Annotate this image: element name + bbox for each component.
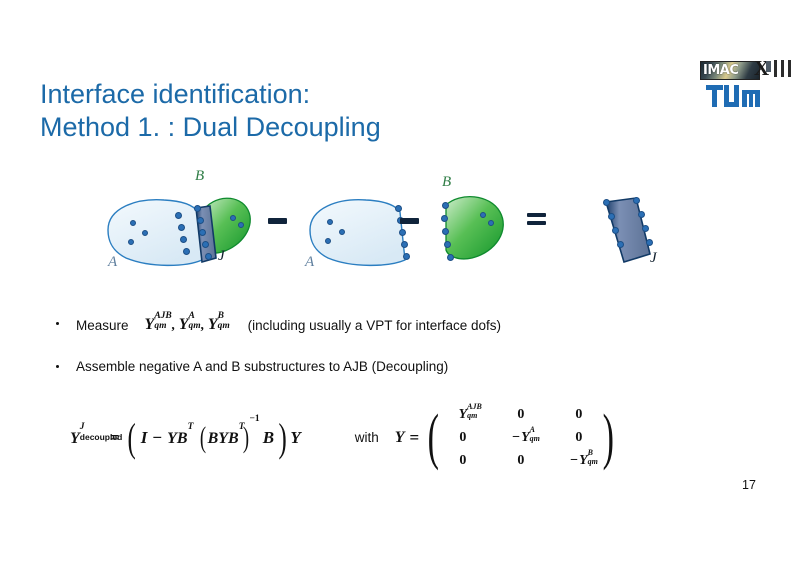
interface-dot xyxy=(608,213,615,220)
term-b: B xyxy=(263,428,274,448)
interface-dot xyxy=(442,228,449,235)
matrix-close-paren: ) xyxy=(603,412,614,463)
decoupling-equation: Y J decoupled = ( I − YB T ( BYB T ) −1 … xyxy=(70,405,619,470)
interface-dot xyxy=(441,215,448,222)
label-b-substructure: B xyxy=(442,174,451,191)
dof-dot xyxy=(325,238,331,244)
label-j-assembly: J xyxy=(218,248,225,265)
matrix-open-paren: ( xyxy=(428,412,439,463)
interface-dot xyxy=(447,254,454,261)
interface-dot xyxy=(401,241,408,248)
bullet-item-assemble: Assemble negative A and B substructures … xyxy=(42,359,702,374)
slide-canvas: IMAC X Interface identification: Method … xyxy=(0,0,800,566)
term-y-a: Y A qm xyxy=(179,316,189,334)
matrix-cell-0-1: 0 xyxy=(502,405,540,424)
dof-dot xyxy=(480,212,486,218)
matrix-cell-2-0: 0 xyxy=(444,451,482,470)
interface-dot xyxy=(633,197,640,204)
dof-dot xyxy=(488,220,494,226)
label-b-assembly: B xyxy=(195,168,204,185)
imac-logo: IMAC xyxy=(700,61,760,80)
bullet-item-measure: Measure Y AJB qm , Y A qm , Y B qm xyxy=(42,316,702,334)
tum-logo xyxy=(706,85,758,107)
label-a-assembly: A xyxy=(108,254,117,271)
matrix-cell-1-2: 0 xyxy=(560,428,598,447)
open-paren: ( xyxy=(128,418,136,458)
substructure-a-figure xyxy=(298,172,428,287)
bullet-2-text: Assemble negative A and B substructures … xyxy=(76,359,448,374)
comma-2: , xyxy=(200,317,203,333)
minus-operator-1 xyxy=(268,218,287,224)
term-y: Y xyxy=(290,428,300,448)
matrix-cell-2-1: 0 xyxy=(502,451,540,470)
inner-close-paren: ) xyxy=(243,423,249,453)
close-paren: ) xyxy=(279,418,287,458)
dof-dot xyxy=(130,220,136,226)
term-y-ajb: Y AJB qm xyxy=(145,316,155,334)
interface-dot xyxy=(638,211,645,218)
matrix-cell-2-2: − Y B qm xyxy=(560,451,598,470)
bullet-marker-icon xyxy=(56,322,59,325)
inner-open-paren: ( xyxy=(199,423,205,453)
label-a-substructure: A xyxy=(305,254,314,271)
imac-logo-bars-icon xyxy=(766,59,796,79)
dof-dot xyxy=(142,230,148,236)
inner-close-paren-group: ) −1 xyxy=(241,423,251,453)
dof-dot xyxy=(339,229,345,235)
interface-dot xyxy=(603,199,610,206)
interface-dot xyxy=(178,224,185,231)
interface-dot xyxy=(199,229,206,236)
matrix-equals: = xyxy=(410,428,420,448)
interface-dot xyxy=(646,239,653,246)
bullet-marker-icon xyxy=(56,365,59,368)
matrix-cell-0-0: Y AJB qm xyxy=(444,405,482,424)
page-title: Interface identification: Method 1. : Du… xyxy=(40,78,640,144)
dof-dot xyxy=(128,239,134,245)
interface-dot xyxy=(395,205,402,212)
page-title-line1: Interface identification: xyxy=(40,78,640,111)
page-title-line2: Method 1. : Dual Decoupling xyxy=(40,111,640,144)
interface-dot xyxy=(183,248,190,255)
interface-dot xyxy=(175,212,182,219)
dof-dot xyxy=(238,222,244,228)
y-matrix: ( Y AJB qm 0 0 0 − Y xyxy=(423,405,618,470)
term-ybt: YB T xyxy=(167,428,187,448)
matrix-cell-0-2: 0 xyxy=(560,405,598,424)
matrix-cell-1-0: 0 xyxy=(444,428,482,447)
term-y-b: Y B qm xyxy=(208,316,218,334)
dof-dot xyxy=(327,219,333,225)
inverse-exponent: −1 xyxy=(249,414,259,424)
bullet-1-text-before: Measure xyxy=(76,318,129,333)
bullet-1-text-after: (including usually a VPT for interface d… xyxy=(248,318,501,333)
matrix-cell-1-1: − Y A qm xyxy=(502,428,540,447)
decoupling-diagram: B A J A B xyxy=(90,172,710,287)
bullet-list: Measure Y AJB qm , Y A qm , Y B qm xyxy=(42,316,702,374)
minus-operator-2 xyxy=(400,218,419,224)
equals-operator xyxy=(527,212,546,227)
term-bybt: BYB T xyxy=(208,428,239,448)
interface-dot xyxy=(180,236,187,243)
interface-dot xyxy=(197,217,204,224)
matrix-grid: Y AJB qm 0 0 0 − Y A qm xyxy=(444,405,598,470)
interface-dot xyxy=(442,202,449,209)
matrix-lhs: Y xyxy=(395,429,405,447)
equation-minus: − xyxy=(152,428,162,448)
interface-dot xyxy=(194,205,201,212)
interface-dot xyxy=(403,253,410,260)
interface-dot xyxy=(202,241,209,248)
with-label: with xyxy=(355,430,379,445)
interface-dot xyxy=(612,227,619,234)
equation-lhs: Y J decoupled xyxy=(70,428,80,448)
label-j-result: J xyxy=(650,250,657,267)
interface-dot xyxy=(399,229,406,236)
interface-dot xyxy=(617,241,624,248)
interface-dot xyxy=(444,241,451,248)
imac-logo-text: IMAC xyxy=(703,63,738,78)
term-identity: I xyxy=(141,428,148,448)
dof-dot xyxy=(230,215,236,221)
interface-dot xyxy=(642,225,649,232)
page-number: 17 xyxy=(742,478,756,492)
interface-dot xyxy=(205,253,212,260)
